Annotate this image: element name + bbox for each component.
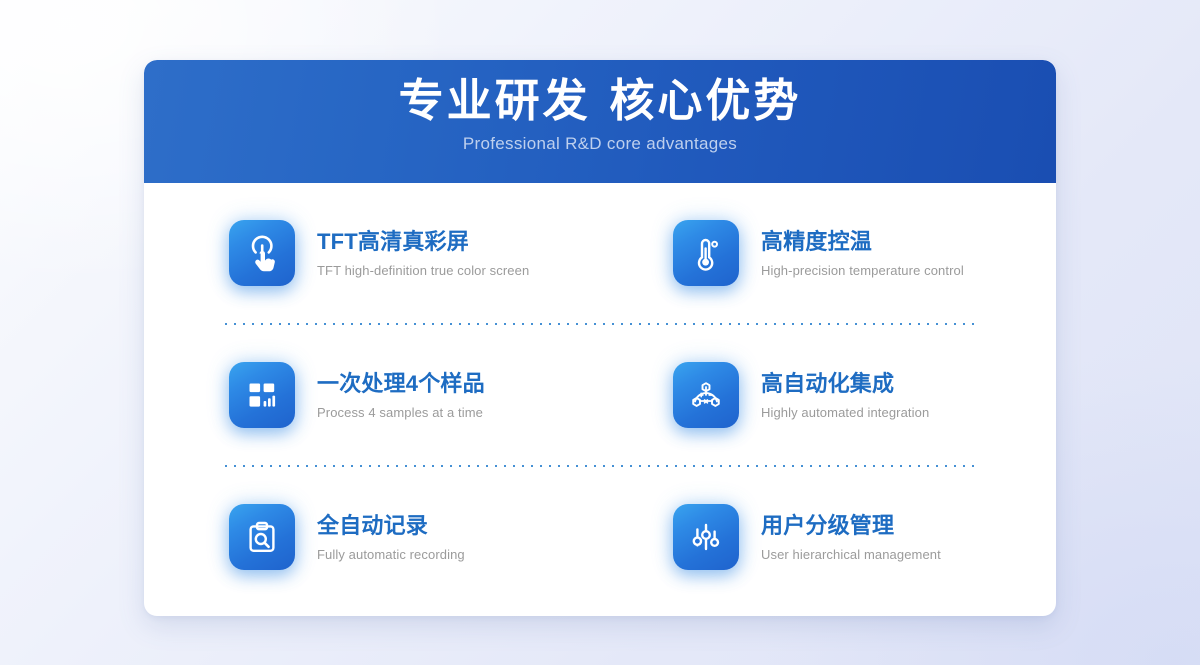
touch-hand-icon: [229, 220, 295, 286]
feature-item-auto-recording[interactable]: 全自动记录 Fully automatic recording: [144, 504, 600, 570]
clipboard-search-icon: [229, 504, 295, 570]
feature-title: 高自动化集成: [761, 370, 929, 398]
page-title: 专业研发 核心优势: [399, 74, 802, 127]
feature-text: 全自动记录 Fully automatic recording: [317, 512, 465, 562]
page-subtitle: Professional R&D core advantages: [463, 134, 737, 154]
feature-title: 高精度控温: [761, 228, 964, 256]
sliders-icon: [673, 504, 739, 570]
feature-title: 用户分级管理: [761, 512, 941, 540]
feature-text: TFT高清真彩屏 TFT high-definition true color …: [317, 228, 529, 278]
feature-description: TFT high-definition true color screen: [317, 263, 529, 278]
card-header: 专业研发 核心优势 Professional R&D core advantag…: [144, 60, 1056, 183]
feature-text: 用户分级管理 User hierarchical management: [761, 512, 941, 562]
feature-text: 高自动化集成 Highly automated integration: [761, 370, 929, 420]
feature-description: Process 4 samples at a time: [317, 405, 485, 420]
feature-title: 全自动记录: [317, 512, 465, 540]
sample-grid-icon: [229, 362, 295, 428]
feature-row: 一次处理4个样品 Process 4 samples at a time: [144, 325, 1056, 465]
feature-text: 高精度控温 High-precision temperature control: [761, 228, 964, 278]
thermometer-icon: [673, 220, 739, 286]
feature-description: High-precision temperature control: [761, 263, 964, 278]
feature-item-user-management[interactable]: 用户分级管理 User hierarchical management: [600, 504, 1056, 570]
feature-item-tft-screen[interactable]: TFT高清真彩屏 TFT high-definition true color …: [144, 220, 600, 286]
feature-title: 一次处理4个样品: [317, 370, 485, 398]
feature-item-temperature-control[interactable]: 高精度控温 High-precision temperature control: [600, 220, 1056, 286]
feature-row: 全自动记录 Fully automatic recording: [144, 467, 1056, 607]
feature-item-sample-capacity[interactable]: 一次处理4个样品 Process 4 samples at a time: [144, 362, 600, 428]
feature-description: User hierarchical management: [761, 547, 941, 562]
feature-description: Fully automatic recording: [317, 547, 465, 562]
feature-description: Highly automated integration: [761, 405, 929, 420]
automation-network-icon: [673, 362, 739, 428]
feature-text: 一次处理4个样品 Process 4 samples at a time: [317, 370, 485, 420]
feature-item-automation[interactable]: 高自动化集成 Highly automated integration: [600, 362, 1056, 428]
feature-grid: TFT高清真彩屏 TFT high-definition true color …: [144, 183, 1056, 607]
feature-row: TFT高清真彩屏 TFT high-definition true color …: [144, 183, 1056, 323]
feature-title: TFT高清真彩屏: [317, 228, 529, 256]
advantages-card: 专业研发 核心优势 Professional R&D core advantag…: [144, 60, 1056, 616]
